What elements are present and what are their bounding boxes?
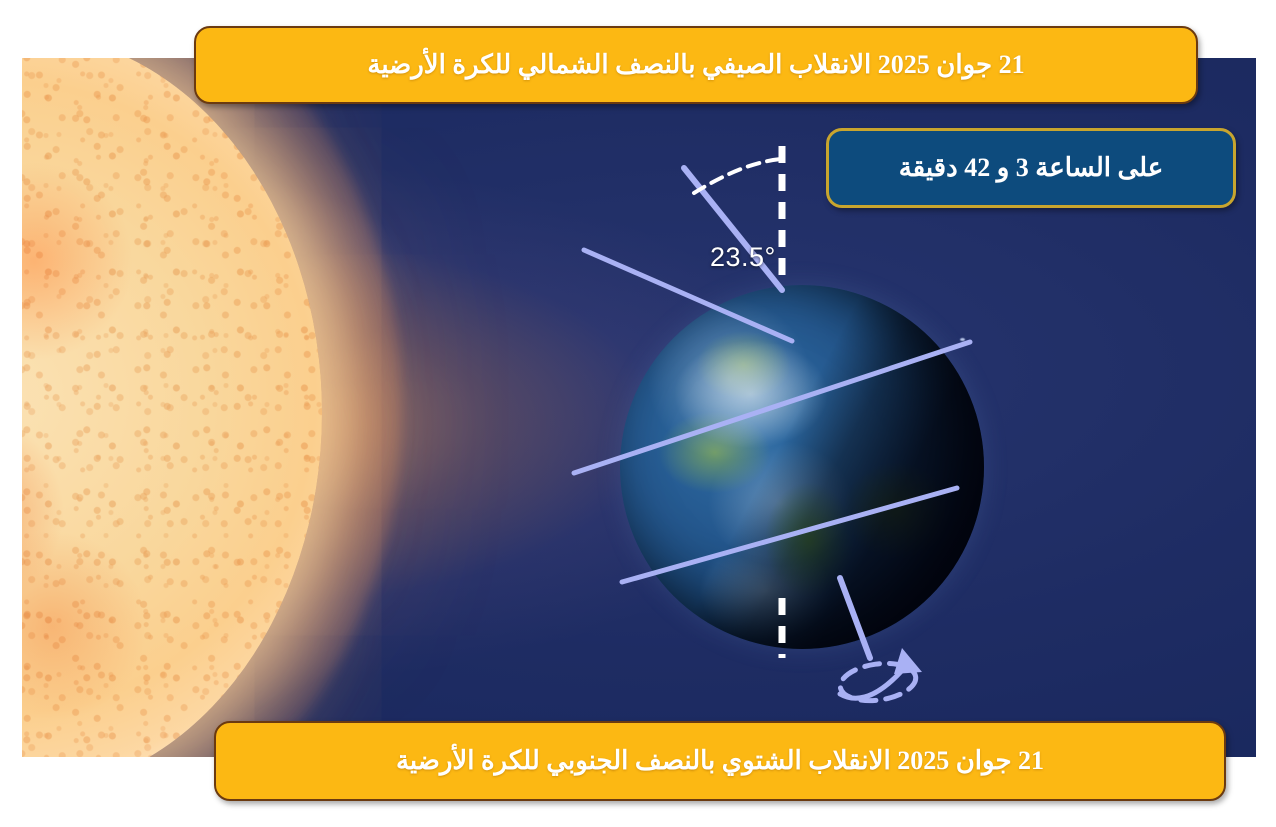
tilt-angle-label: 23.5° — [710, 242, 776, 273]
tilt-angle-arc-icon — [694, 159, 782, 193]
bottom-banner-winter-solstice: 21 جوان 2025 الانقلاب الشتوي بالنصف الجن… — [214, 721, 1226, 801]
time-callout-box: على الساعة 3 و 42 دقيقة — [826, 128, 1236, 208]
top-banner-summer-solstice: 21 جوان 2025 الانقلاب الصيفي بالنصف الشم… — [194, 26, 1198, 104]
rotation-arrow-tail-icon — [840, 666, 906, 698]
rotation-direction-arrow-icon — [838, 659, 918, 705]
sun-icon — [22, 58, 362, 757]
earth-surface — [620, 285, 984, 649]
rotation-arrowhead-icon — [894, 648, 922, 674]
earth-globe-icon — [620, 285, 984, 649]
